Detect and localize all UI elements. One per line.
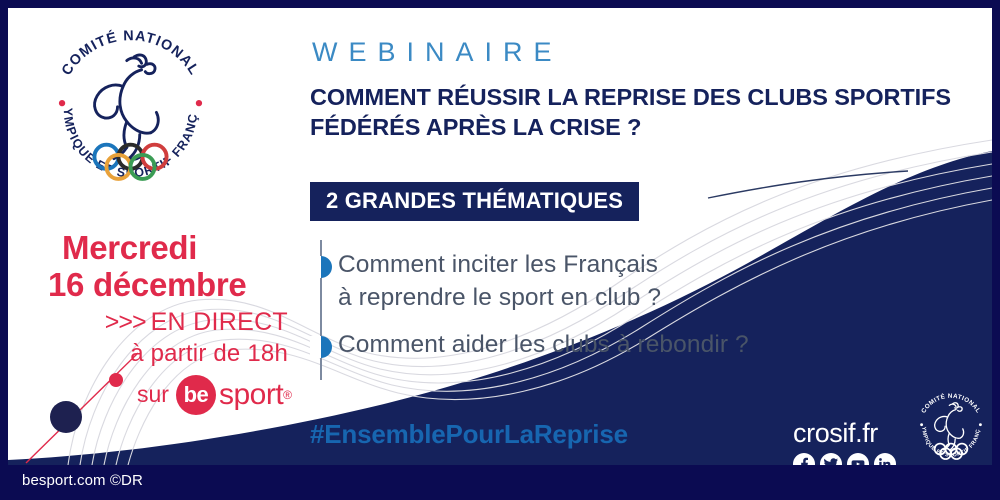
credit-text: besport.com ©DR [22, 472, 143, 489]
crosif-website[interactable]: crosif.fr [793, 420, 896, 447]
svg-text:COMITÉ NATIONAL: COMITÉ NATIONAL [920, 391, 982, 414]
live-row: >>> EN DIRECT [44, 310, 294, 335]
event-start-time: à partir de 18h [44, 340, 294, 368]
topic-text: Comment aider les clubs à rebondir ? [338, 328, 808, 361]
credit-bar: besport.com ©DR [0, 465, 1000, 500]
cnosf-logo: COMITÉ NATIONAL OLYMPIQUE ET SPORTIF FRA… [38, 18, 223, 203]
webinar-poster: COMITÉ NATIONAL OLYMPIQUE ET SPORTIF FRA… [0, 0, 1000, 500]
headline-line-2: FÉDÉRÉS APRÈS LA CRISE ? [310, 112, 970, 142]
event-date: 16 décembre [44, 267, 294, 304]
svg-text:COMITÉ NATIONAL: COMITÉ NATIONAL [59, 28, 202, 78]
headline-line-1: COMMENT RÉUSSIR LA REPRISE DES CLUBS SPO… [310, 82, 970, 112]
broadcast-platform: sur be sport ® [44, 375, 294, 415]
themes-banner-label: 2 GRANDES THÉMATIQUES [326, 190, 623, 212]
kicker-webinaire: WEBINAIRE [312, 39, 563, 66]
event-day: Mercredi [44, 230, 294, 267]
platform-name: sport [219, 378, 283, 412]
topic-text: Comment inciter les Français à reprendre… [338, 248, 808, 314]
cros-idf-logo: COMITÉ NATIONAL OLYMPIQUE ET SPORTIF FRA… [901, 386, 992, 465]
chevrons-icon: >>> [105, 310, 146, 335]
linkedin-icon[interactable] [874, 453, 896, 465]
crosif-block: crosif.fr [793, 420, 896, 465]
bullet-dot-mask [310, 256, 321, 278]
topic-1-line-2: à reprendre le sport en club ? [338, 281, 808, 314]
twitter-icon[interactable] [820, 453, 842, 465]
bullet-dot-mask [310, 336, 321, 358]
topics-list: Comment inciter les Français à reprendre… [310, 240, 830, 380]
page-title: COMMENT RÉUSSIR LA REPRISE DES CLUBS SPO… [310, 82, 970, 142]
registered-mark-icon: ® [283, 388, 292, 402]
campaign-hashtag: #EnsemblePourLaReprise [310, 419, 628, 450]
themes-banner: 2 GRANDES THÉMATIQUES [310, 182, 639, 221]
topic-1-line-1: Comment inciter les Français [338, 248, 808, 281]
poster-canvas: COMITÉ NATIONAL OLYMPIQUE ET SPORTIF FRA… [8, 8, 992, 465]
besport-mark-icon: be [176, 375, 216, 415]
social-links [793, 453, 896, 465]
topic-2-line-1: Comment aider les clubs à rebondir ? [338, 328, 808, 361]
cros-cnosf-mark-icon: COMITÉ NATIONAL OLYMPIQUE ET SPORTIF FRA… [909, 386, 992, 465]
platform-prefix: sur [137, 381, 169, 408]
facebook-icon[interactable] [793, 453, 815, 465]
event-details: Mercredi 16 décembre >>> EN DIRECT à par… [44, 230, 294, 415]
live-label: EN DIRECT [151, 310, 288, 335]
youtube-icon[interactable] [847, 453, 869, 465]
